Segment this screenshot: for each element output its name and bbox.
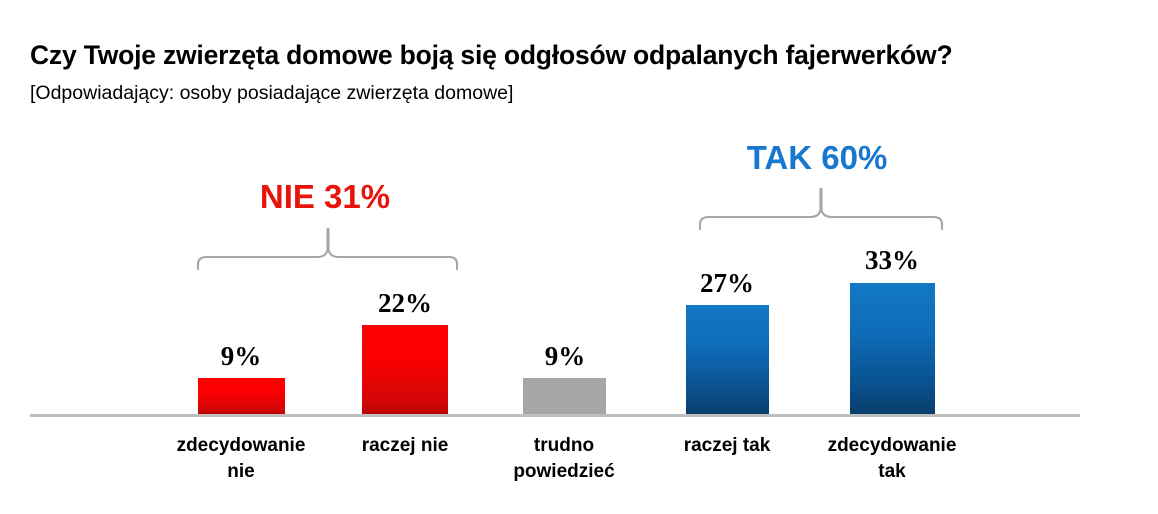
category-label-trudno-powiedziec: trudno powiedzieć xyxy=(474,433,654,485)
bar-chart-plot-area: NIE 31% TAK 60% 9% 22% 9% 27% 33% zdecyd… xyxy=(0,0,1158,514)
category-label-line2: nie xyxy=(151,459,331,485)
bar-zdecydowanie-tak[interactable] xyxy=(850,283,935,415)
bar-zdecydowanie-nie[interactable] xyxy=(198,378,285,415)
value-label-raczej-nie: 22% xyxy=(340,288,470,319)
category-label-line1: trudno xyxy=(474,433,654,459)
category-label-line2: tak xyxy=(802,459,982,485)
category-label-raczej-nie: raczej nie xyxy=(315,433,495,459)
value-label-raczej-tak: 27% xyxy=(662,268,792,299)
brace-tak-icon xyxy=(697,188,945,230)
group-label-nie: NIE 31% xyxy=(140,178,510,216)
value-label-trudno-powiedziec: 9% xyxy=(500,341,630,372)
group-label-tak: TAK 60% xyxy=(632,139,1002,177)
category-label-line1: zdecydowanie xyxy=(151,433,331,459)
category-label-line1: raczej tak xyxy=(637,433,817,459)
brace-nie-icon xyxy=(195,228,460,270)
category-label-line1: zdecydowanie xyxy=(802,433,982,459)
axis-baseline xyxy=(30,414,1080,417)
category-label-line1: raczej nie xyxy=(315,433,495,459)
value-label-zdecydowanie-tak: 33% xyxy=(827,245,957,276)
category-label-zdecydowanie-tak: zdecydowanie tak xyxy=(802,433,982,485)
bar-raczej-nie[interactable] xyxy=(362,325,448,415)
value-label-zdecydowanie-nie: 9% xyxy=(176,341,306,372)
category-label-zdecydowanie-nie: zdecydowanie nie xyxy=(151,433,331,485)
bar-raczej-tak[interactable] xyxy=(686,305,769,415)
category-label-line2: powiedzieć xyxy=(474,459,654,485)
bar-trudno-powiedziec[interactable] xyxy=(523,378,606,415)
category-label-raczej-tak: raczej tak xyxy=(637,433,817,459)
